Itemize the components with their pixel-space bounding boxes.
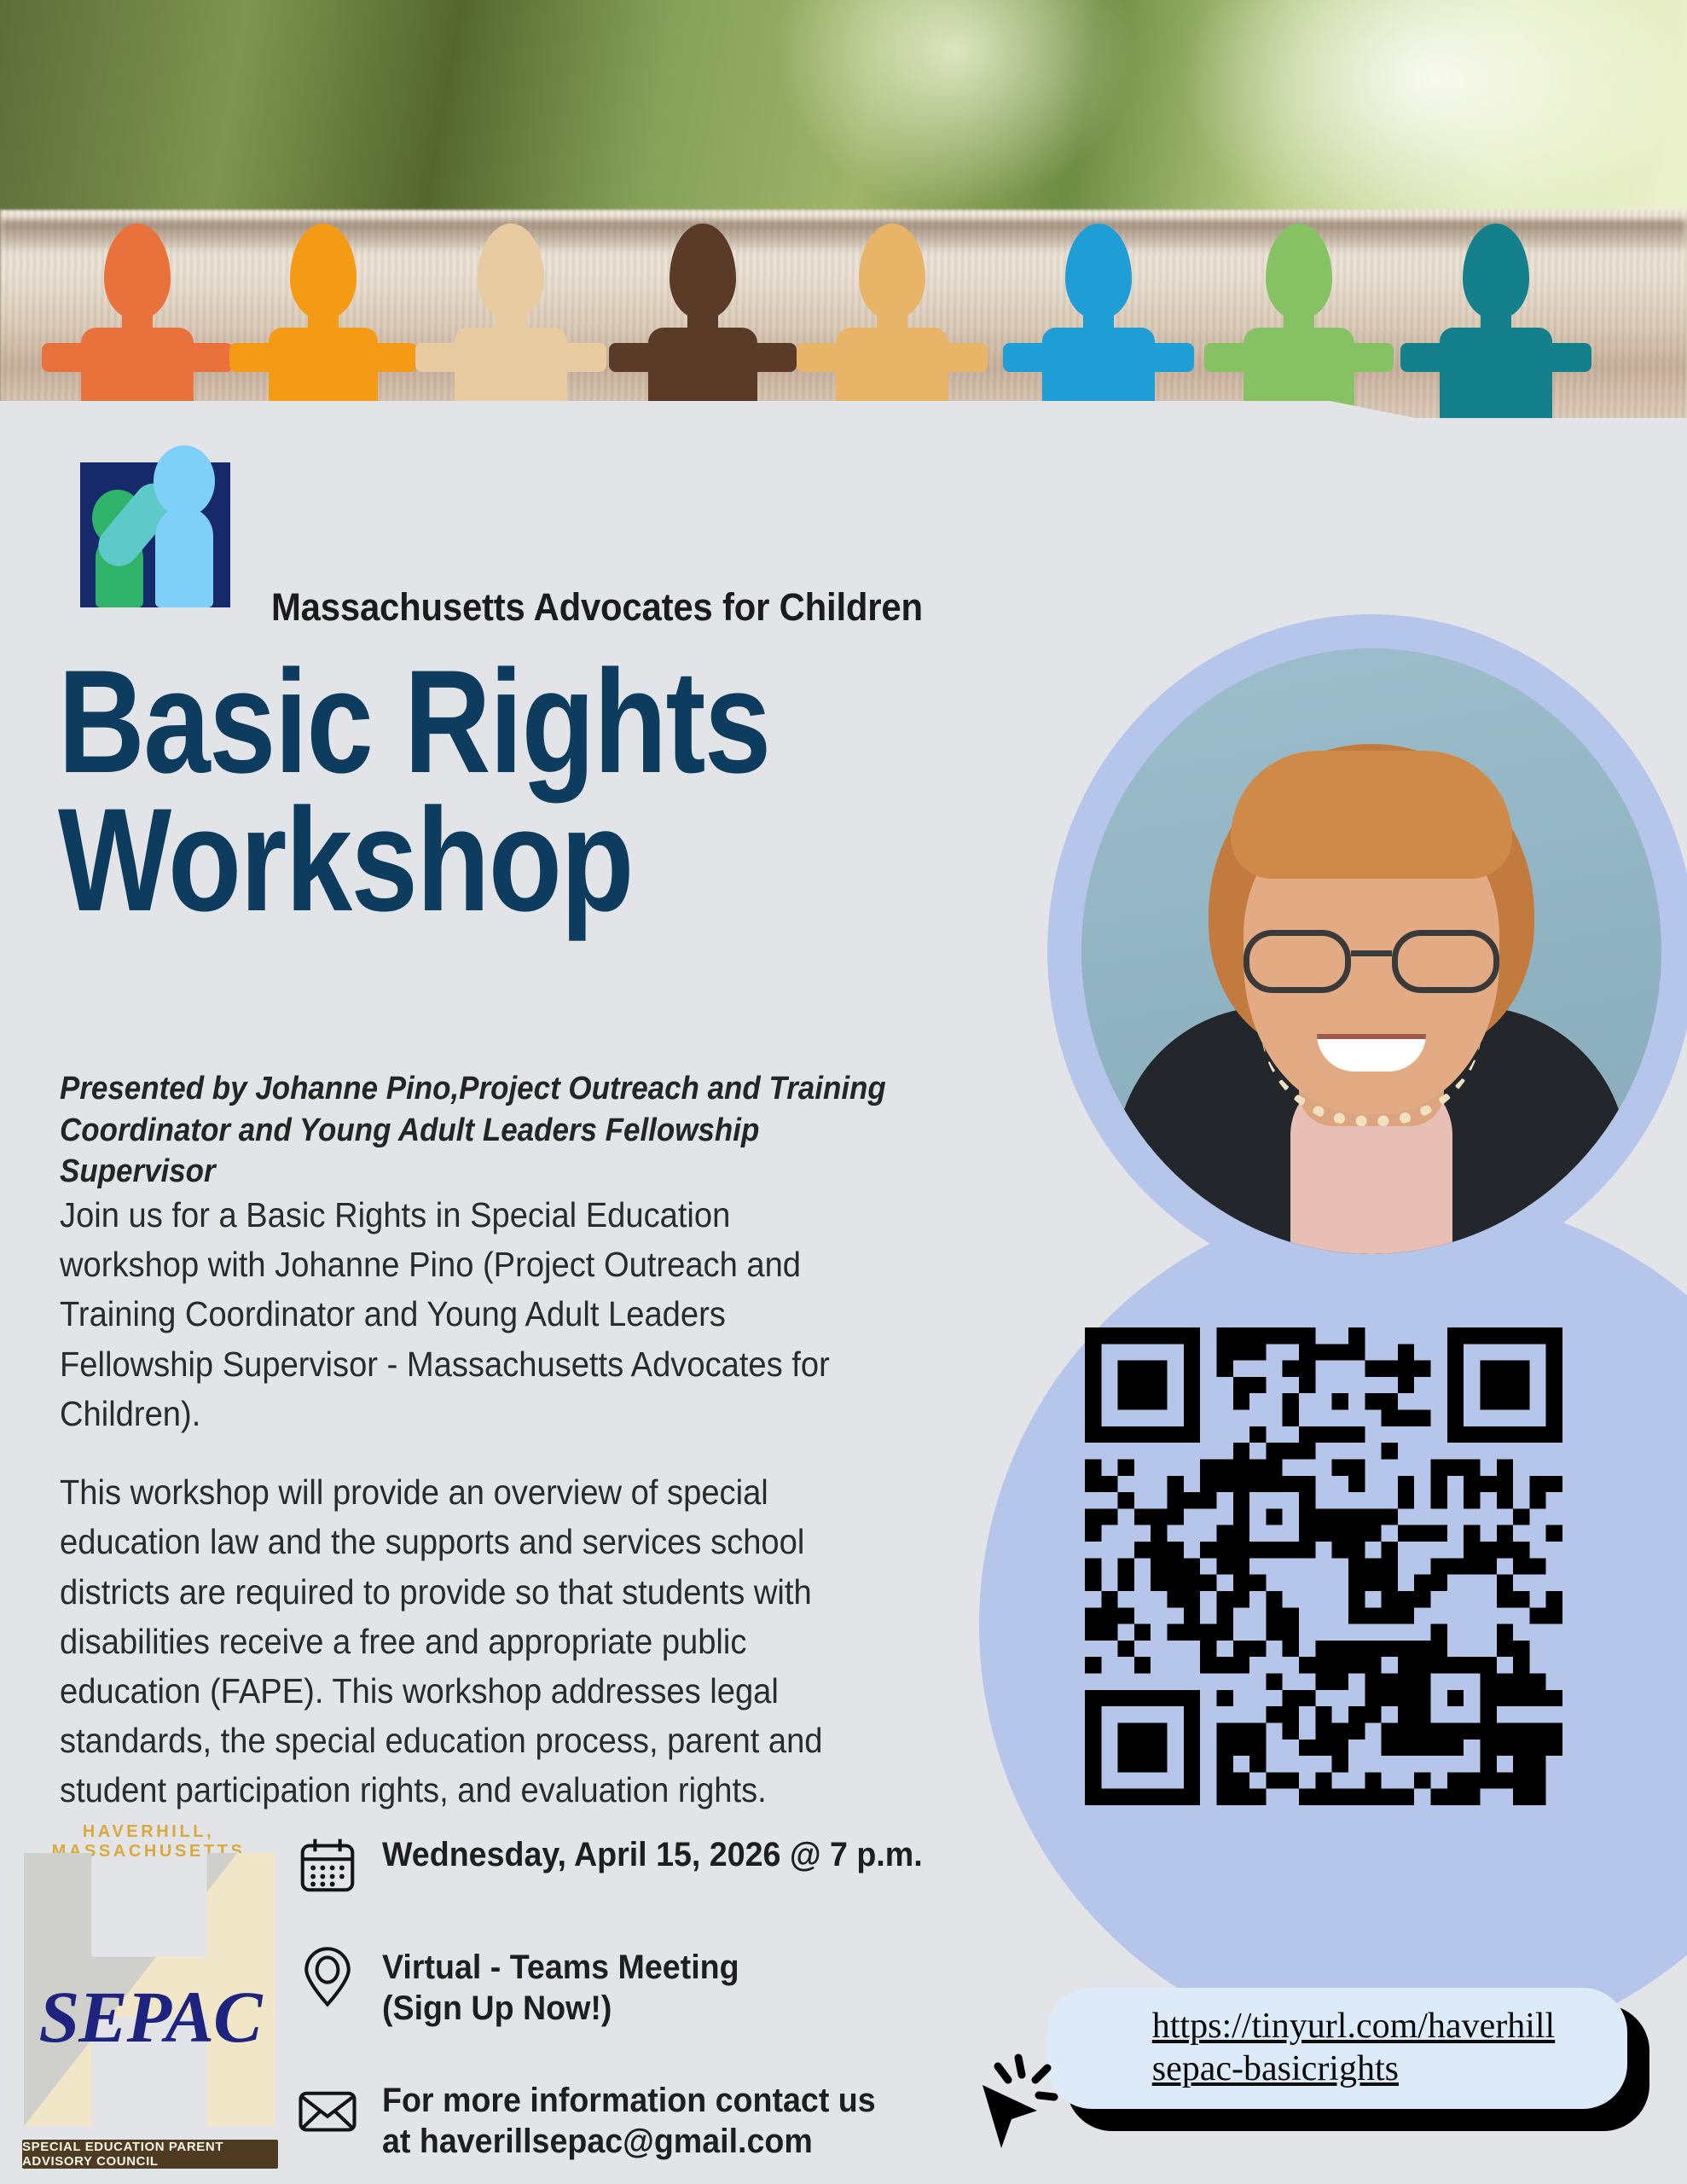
location-pin-icon: [297, 1947, 358, 2008]
table-edge: [0, 220, 1687, 249]
sepac-wordmark: SEPAC: [15, 1974, 285, 2059]
body-copy: Join us for a Basic Rights in Special Ed…: [60, 1190, 861, 1815]
detail-row-location: Virtual - Teams Meeting (Sign Up Now!): [297, 1947, 762, 2029]
mac-logo-icon: [61, 445, 249, 607]
body-paragraph-2: This workshop will provide an overview o…: [60, 1467, 861, 1815]
sepac-logo: HAVERHILL, MASSACHUSETTS SEPAC SPECIAL E…: [9, 1814, 290, 2177]
flyer-poster: Massachusetts Advocates for Children Bas…: [0, 0, 1687, 2184]
presenter-line: Presented by Johanne Pino,Project Outrea…: [60, 1068, 915, 1193]
cursor-click-icon: [972, 2047, 1075, 2167]
header-photo: [0, 0, 1687, 512]
url-line-2: sepac-basicrights: [1152, 2049, 1399, 2088]
url-callout[interactable]: https://tinyurl.com/haverhill sepac-basi…: [1047, 1988, 1649, 2131]
presenter-photo: [1081, 648, 1661, 1254]
registration-url[interactable]: https://tinyurl.com/haverhill sepac-basi…: [1108, 2006, 1567, 2090]
calendar-icon: [297, 1834, 358, 1896]
sepac-tagline: SPECIAL EDUCATION PARENT ADVISORY COUNCI…: [22, 2140, 278, 2169]
detail-row-email: For more information contact us at haver…: [297, 2080, 907, 2162]
envelope-icon: [297, 2080, 358, 2141]
detail-email-text: For more information contact us at haver…: [382, 2080, 876, 2162]
detail-row-date: Wednesday, April 15, 2026 @ 7 p.m.: [297, 1834, 957, 1896]
sepac-tagline-bar: SPECIAL EDUCATION PARENT ADVISORY COUNCI…: [22, 2140, 278, 2169]
callout-bubble[interactable]: https://tinyurl.com/haverhill sepac-basi…: [1047, 1988, 1627, 2109]
qr-code-icon[interactable]: [1085, 1327, 1562, 1805]
body-paragraph-1: Join us for a Basic Rights in Special Ed…: [60, 1190, 861, 1438]
url-line-1: https://tinyurl.com/haverhill: [1152, 2007, 1555, 2046]
page-title: Basic Rights Workshop: [58, 653, 855, 929]
detail-location-text: Virtual - Teams Meeting (Sign Up Now!): [382, 1947, 739, 2029]
organization-name: Massachusetts Advocates for Children: [271, 585, 923, 630]
detail-date-text: Wednesday, April 15, 2026 @ 7 p.m.: [382, 1834, 923, 1875]
